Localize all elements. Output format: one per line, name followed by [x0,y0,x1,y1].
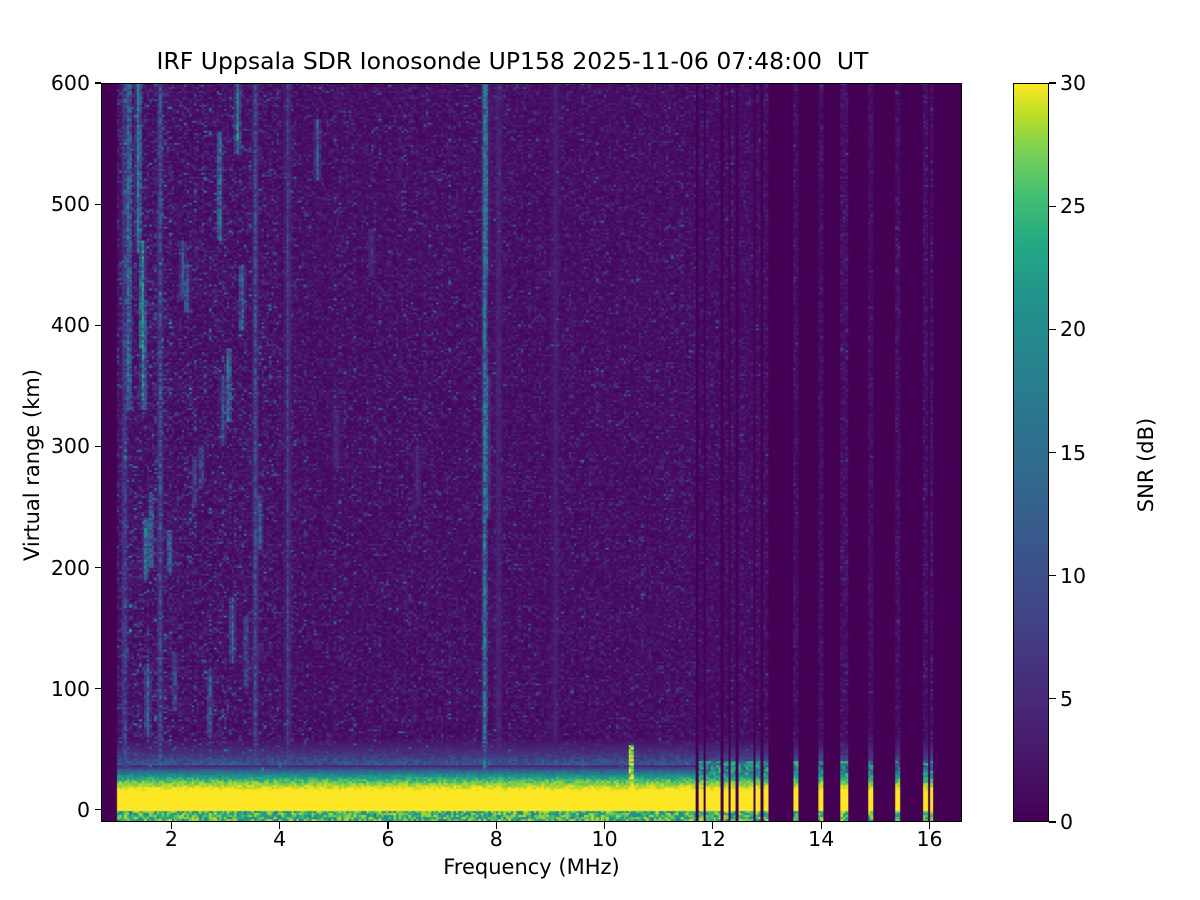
y-tick-mark [95,325,102,326]
x-tick-label: 14 [808,829,834,850]
colorbar-tick-label: 30 [1060,73,1086,94]
colorbar-tick-mark [1049,698,1056,699]
ionogram-plot-area[interactable] [101,83,962,822]
colorbar-label: SNR (dB) [1134,245,1158,685]
title-line-1: IRF Uppsala SDR Ionosonde UP158 2025-11-… [157,47,869,75]
y-tick-label: 0 [77,800,90,821]
x-tick-label: 4 [273,829,286,850]
colorbar-tick-label: 10 [1060,565,1086,586]
y-tick-label: 500 [51,194,90,215]
colorbar-tick-mark [1049,452,1056,453]
x-tick-label: 8 [490,829,503,850]
y-tick-label: 200 [51,557,90,578]
colorbar-gradient [1013,83,1049,822]
y-tick-mark [95,688,102,689]
colorbar-tick-label: 15 [1060,442,1086,463]
y-tick-mark [95,809,102,810]
y-tick-label: 300 [51,436,90,457]
colorbar-tick-mark [1049,82,1056,83]
y-tick-mark [95,204,102,205]
colorbar-tick-mark [1049,329,1056,330]
colorbar-tick-label: 0 [1060,812,1073,833]
y-tick-mark [95,446,102,447]
x-tick-label: 16 [916,829,942,850]
colorbar-tick-label: 25 [1060,196,1086,217]
y-tick-label: 600 [51,73,90,94]
y-tick-label: 400 [51,315,90,336]
colorbar-tick-mark [1049,821,1056,822]
y-tick-label: 100 [51,678,90,699]
y-axis-label: Virtual range (km) [20,245,44,685]
y-tick-mark [95,82,102,83]
colorbar-tick-mark [1049,575,1056,576]
colorbar-tick-label: 20 [1060,319,1086,340]
colorbar-tick-label: 5 [1060,689,1073,710]
x-tick-label: 12 [700,829,726,850]
x-tick-label: 6 [381,829,394,850]
x-tick-label: 10 [592,829,618,850]
colorbar-tick-mark [1049,206,1056,207]
y-tick-mark [95,567,102,568]
ionogram-heatmap [102,84,961,821]
x-axis-label: Frequency (MHz) [101,855,962,879]
x-tick-label: 2 [165,829,178,850]
